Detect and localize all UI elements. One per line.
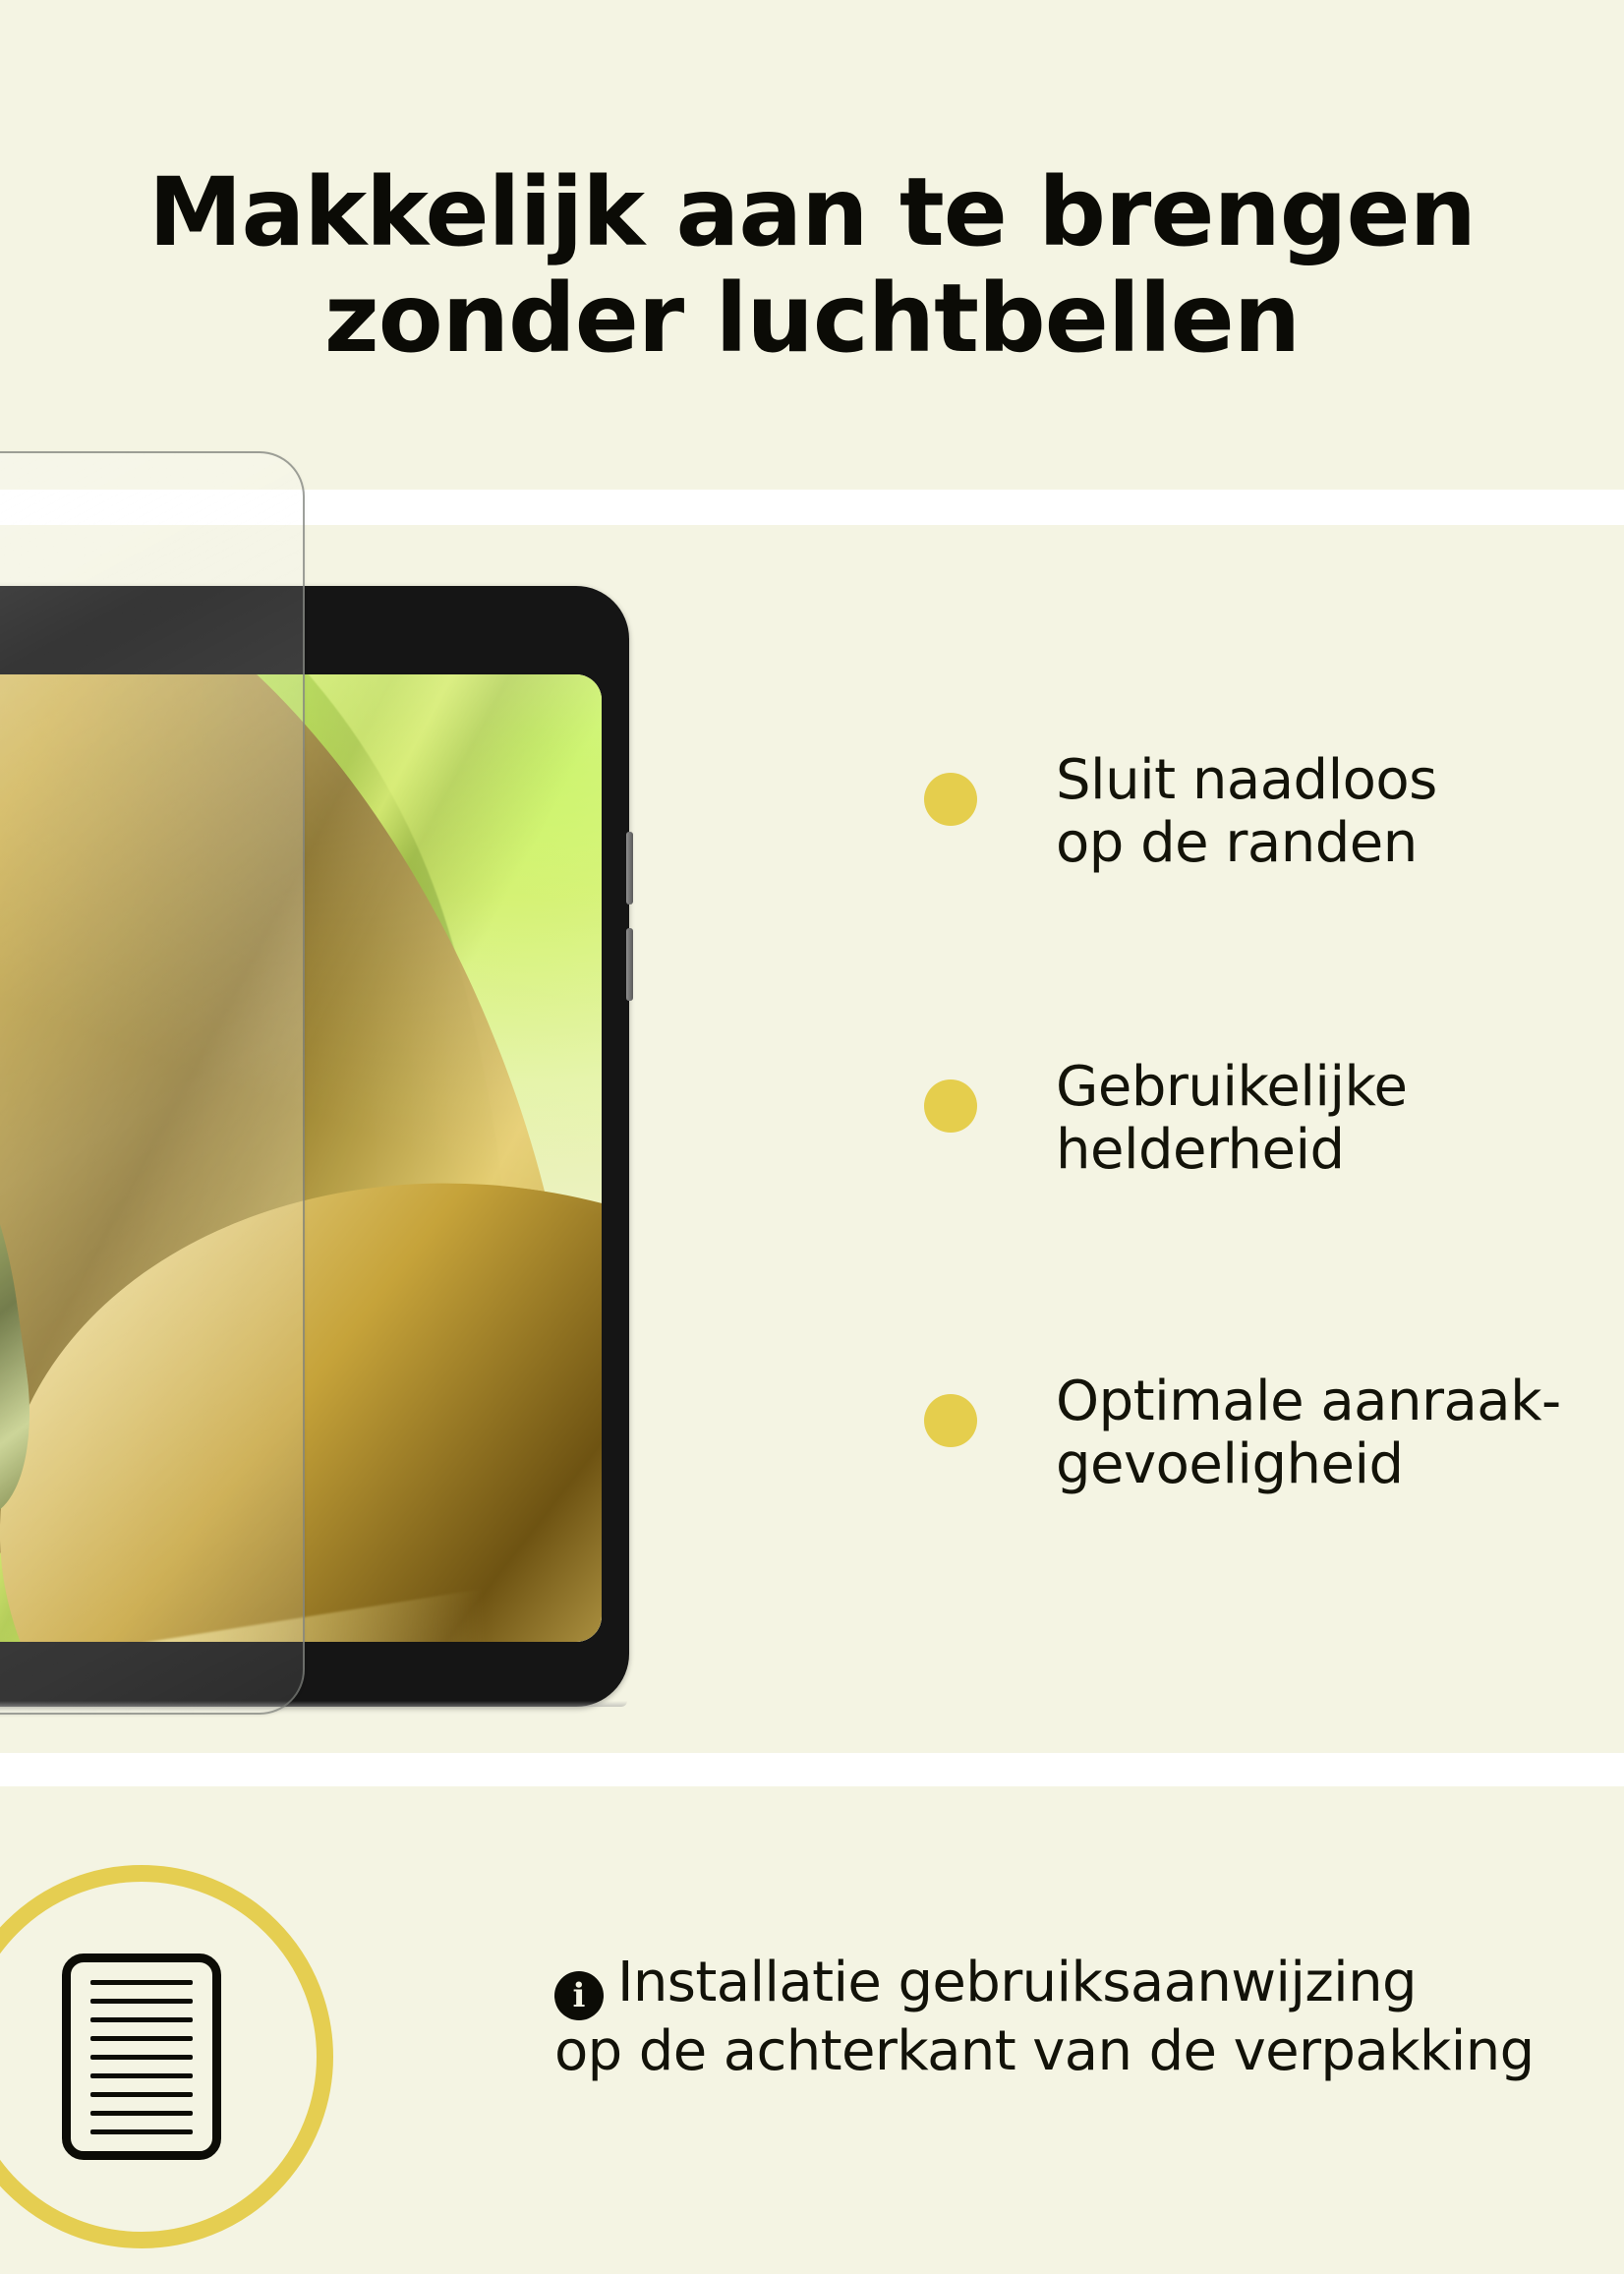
manual-section: iInstallatie gebruiksaanwijzing op de ac… [0, 1786, 1624, 2274]
document-lines-icon [62, 1953, 221, 2160]
manual-note-text: Installatie gebruiksaanwijzing op de ach… [554, 1951, 1535, 2083]
screen-glare [0, 674, 602, 1642]
doc-line [90, 2129, 193, 2134]
tablet-screen [0, 674, 602, 1642]
divider-top [0, 490, 1624, 525]
doc-line [90, 2017, 193, 2022]
page-title: Makkelijk aan te brengen zonder luchtbel… [0, 160, 1624, 372]
bullet-dot-icon [924, 773, 977, 826]
doc-line [90, 2092, 193, 2097]
doc-line [90, 2111, 193, 2116]
tablet-device [0, 586, 629, 1707]
doc-line [90, 1980, 193, 1985]
headline-section: Makkelijk aan te brengen zonder luchtbel… [0, 0, 1624, 490]
doc-line [90, 1999, 193, 2004]
bullet-dot-icon [924, 1079, 977, 1133]
bullet-label: Optimale aanraak- gevoeligheid [1056, 1370, 1561, 1496]
bullet-label: Sluit naadloos op de randen [1056, 749, 1437, 875]
doc-line [90, 2055, 193, 2060]
volume-down-button[interactable] [626, 928, 633, 1001]
bullet-item-seamless-edges: Sluit naadloos op de randen [924, 749, 1437, 875]
product-feature-panel: Makkelijk aan te brengen zonder luchtbel… [0, 0, 1624, 2274]
tablet-illustration [0, 525, 688, 1753]
manual-note: iInstallatie gebruiksaanwijzing op de ac… [554, 1952, 1624, 2084]
product-section: Sluit naadloos op de randen Gebruikelijk… [0, 525, 1624, 1753]
divider-bottom [0, 1753, 1624, 1786]
feature-bullet-list: Sluit naadloos op de randen Gebruikelijk… [924, 525, 1624, 1753]
bullet-item-clarity: Gebruikelijke helderheid [924, 1056, 1407, 1182]
bullet-label: Gebruikelijke helderheid [1056, 1056, 1407, 1182]
doc-line [90, 2036, 193, 2041]
doc-line [90, 2073, 193, 2078]
info-icon: i [554, 1971, 604, 2020]
bullet-item-touch-sensitivity: Optimale aanraak- gevoeligheid [924, 1370, 1561, 1496]
bullet-dot-icon [924, 1394, 977, 1447]
manual-badge-ring [0, 1865, 333, 2248]
volume-up-button[interactable] [626, 832, 633, 904]
